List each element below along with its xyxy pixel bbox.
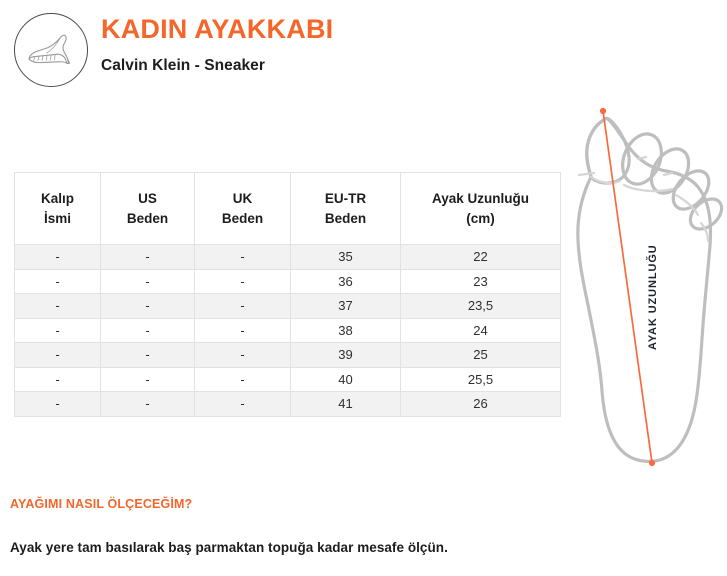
cell-us-beden: - bbox=[101, 392, 195, 417]
header-line1: UK bbox=[233, 191, 253, 206]
header-text-block: KADIN AYAKKABI Calvin Klein - Sneaker bbox=[101, 14, 661, 75]
cell-ayak-uzunlugu: 22 bbox=[401, 245, 561, 270]
table-row: - - - 37 23,5 bbox=[15, 294, 561, 319]
cell-uk-beden: - bbox=[195, 245, 291, 270]
cell-ayak-uzunlugu: 23 bbox=[401, 269, 561, 294]
cell-us-beden: - bbox=[101, 269, 195, 294]
measurement-endpoint-toe bbox=[600, 108, 606, 114]
table-header-row: Kalıp İsmi US Beden UK Beden EU-TR Beden… bbox=[15, 173, 561, 245]
cell-kalip-ismi: - bbox=[15, 318, 101, 343]
cell-uk-beden: - bbox=[195, 269, 291, 294]
cell-kalip-ismi: - bbox=[15, 343, 101, 368]
cell-us-beden: - bbox=[101, 318, 195, 343]
table-body: - - - 35 22 - - - 36 23 - - - 37 23,5 - … bbox=[15, 245, 561, 417]
cell-ayak-uzunlugu: 24 bbox=[401, 318, 561, 343]
cell-uk-beden: - bbox=[195, 392, 291, 417]
page-header: KADIN AYAKKABI Calvin Klein - Sneaker bbox=[0, 0, 727, 100]
cell-kalip-ismi: - bbox=[15, 367, 101, 392]
column-header-us-beden: US Beden bbox=[101, 173, 195, 245]
cell-eu-tr-beden: 36 bbox=[291, 269, 401, 294]
cell-ayak-uzunlugu: 23,5 bbox=[401, 294, 561, 319]
measurement-label: AYAK UZUNLUĞU bbox=[645, 232, 661, 362]
header-line2: Beden bbox=[325, 211, 366, 226]
column-header-kalip-ismi: Kalıp İsmi bbox=[15, 173, 101, 245]
cell-uk-beden: - bbox=[195, 294, 291, 319]
header-line1: Ayak Uzunluğu bbox=[432, 191, 529, 206]
header-line2: (cm) bbox=[466, 211, 495, 226]
header-line2: Beden bbox=[127, 211, 168, 226]
page-title: KADIN AYAKKABI bbox=[101, 14, 661, 45]
cell-kalip-ismi: - bbox=[15, 392, 101, 417]
measurement-endpoint-heel bbox=[649, 460, 655, 466]
header-line2: İsmi bbox=[44, 211, 71, 226]
cell-us-beden: - bbox=[101, 245, 195, 270]
cell-eu-tr-beden: 35 bbox=[291, 245, 401, 270]
size-chart-table: Kalıp İsmi US Beden UK Beden EU-TR Beden… bbox=[14, 172, 561, 417]
column-header-ayak-uzunlugu: Ayak Uzunluğu (cm) bbox=[401, 173, 561, 245]
table-row: - - - 40 25,5 bbox=[15, 367, 561, 392]
cell-uk-beden: - bbox=[195, 318, 291, 343]
cell-uk-beden: - bbox=[195, 343, 291, 368]
header-line2: Beden bbox=[222, 211, 263, 226]
cell-uk-beden: - bbox=[195, 367, 291, 392]
column-header-uk-beden: UK Beden bbox=[195, 173, 291, 245]
high-heel-shoe-icon bbox=[14, 13, 88, 87]
header-line1: EU-TR bbox=[325, 191, 366, 206]
cell-kalip-ismi: - bbox=[15, 269, 101, 294]
cell-ayak-uzunlugu: 26 bbox=[401, 392, 561, 417]
column-header-eu-tr-beden: EU-TR Beden bbox=[291, 173, 401, 245]
cell-us-beden: - bbox=[101, 367, 195, 392]
table-row: - - - 36 23 bbox=[15, 269, 561, 294]
how-to-measure-body: Ayak yere tam basılarak baş parmaktan to… bbox=[10, 540, 448, 555]
foot-sole-diagram bbox=[560, 95, 727, 485]
cell-eu-tr-beden: 38 bbox=[291, 318, 401, 343]
cell-eu-tr-beden: 39 bbox=[291, 343, 401, 368]
cell-kalip-ismi: - bbox=[15, 294, 101, 319]
page-subtitle: Calvin Klein - Sneaker bbox=[101, 57, 661, 75]
cell-us-beden: - bbox=[101, 294, 195, 319]
cell-ayak-uzunlugu: 25,5 bbox=[401, 367, 561, 392]
table-row: - - - 38 24 bbox=[15, 318, 561, 343]
cell-us-beden: - bbox=[101, 343, 195, 368]
cell-kalip-ismi: - bbox=[15, 245, 101, 270]
cell-ayak-uzunlugu: 25 bbox=[401, 343, 561, 368]
cell-eu-tr-beden: 37 bbox=[291, 294, 401, 319]
table-row: - - - 35 22 bbox=[15, 245, 561, 270]
cell-eu-tr-beden: 41 bbox=[291, 392, 401, 417]
table-row: - - - 39 25 bbox=[15, 343, 561, 368]
table-row: - - - 41 26 bbox=[15, 392, 561, 417]
how-to-measure-heading: AYAĞIMI NASIL ÖLÇECEĞİM? bbox=[10, 497, 192, 511]
header-line1: Kalıp bbox=[41, 191, 74, 206]
cell-eu-tr-beden: 40 bbox=[291, 367, 401, 392]
header-line1: US bbox=[138, 191, 157, 206]
